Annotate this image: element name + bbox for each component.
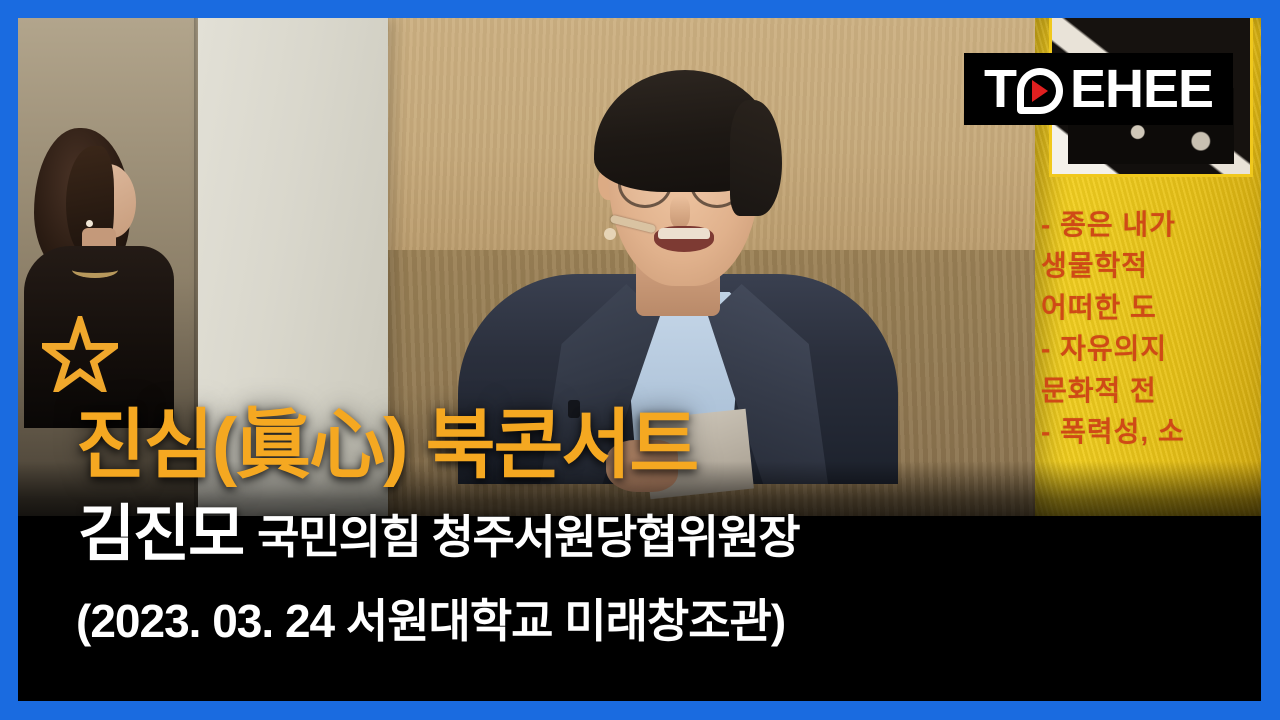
video-still: - 종은 내가 생물학적 어떠한 도 - 자유의지 문화적 전 - 폭력성, 소… — [18, 18, 1261, 701]
venue-and-date: (2023. 03. 24 서원대학교 미래창조관) — [76, 598, 785, 644]
speaker-line: 김진모국민의힘 청주서원당협위원장 — [78, 504, 799, 566]
headset-mic-tip-icon — [604, 228, 616, 240]
speaker-name: 김진모 — [78, 500, 243, 569]
play-triangle-icon — [1032, 80, 1048, 102]
poster-line: 생물학적 — [1041, 245, 1261, 286]
logo-prefix-letter: T — [984, 62, 1016, 116]
event-title-text: 진심(眞心) 북콘서트 — [76, 403, 697, 488]
logo-suffix-letters: EHEE — [1070, 62, 1213, 116]
logo-a-play-icon — [1017, 62, 1069, 116]
speaker-hair-side — [730, 100, 782, 216]
poster-line: - 폭력성, 소 — [1041, 411, 1261, 452]
thumbnail-frame: - 종은 내가 생물학적 어떠한 도 - 자유의지 문화적 전 - 폭력성, 소… — [0, 0, 1280, 720]
woman-necklace — [72, 262, 118, 278]
taehee-logo[interactable]: T EHEE — [964, 53, 1233, 125]
woman-earring — [86, 220, 93, 227]
poster-line: 문화적 전 — [1041, 370, 1261, 411]
event-title: 진심(眞心) 북콘서트 — [76, 408, 697, 484]
poster-line: - 종은 내가 — [1041, 204, 1261, 245]
speaker-nose — [670, 196, 690, 228]
poster-line: 어떠한 도 — [1041, 287, 1261, 328]
poster-line: - 자유의지 — [1041, 328, 1261, 369]
speaker-role: 국민의힘 청주서원당협위원장 — [257, 511, 799, 563]
logo-wordmark: T EHEE — [984, 62, 1213, 116]
poster-text-block: - 종은 내가 생물학적 어떠한 도 - 자유의지 문화적 전 - 폭력성, 소 — [1041, 204, 1261, 453]
speaker-teeth — [658, 228, 710, 239]
five-pointed-star-icon — [42, 316, 118, 392]
